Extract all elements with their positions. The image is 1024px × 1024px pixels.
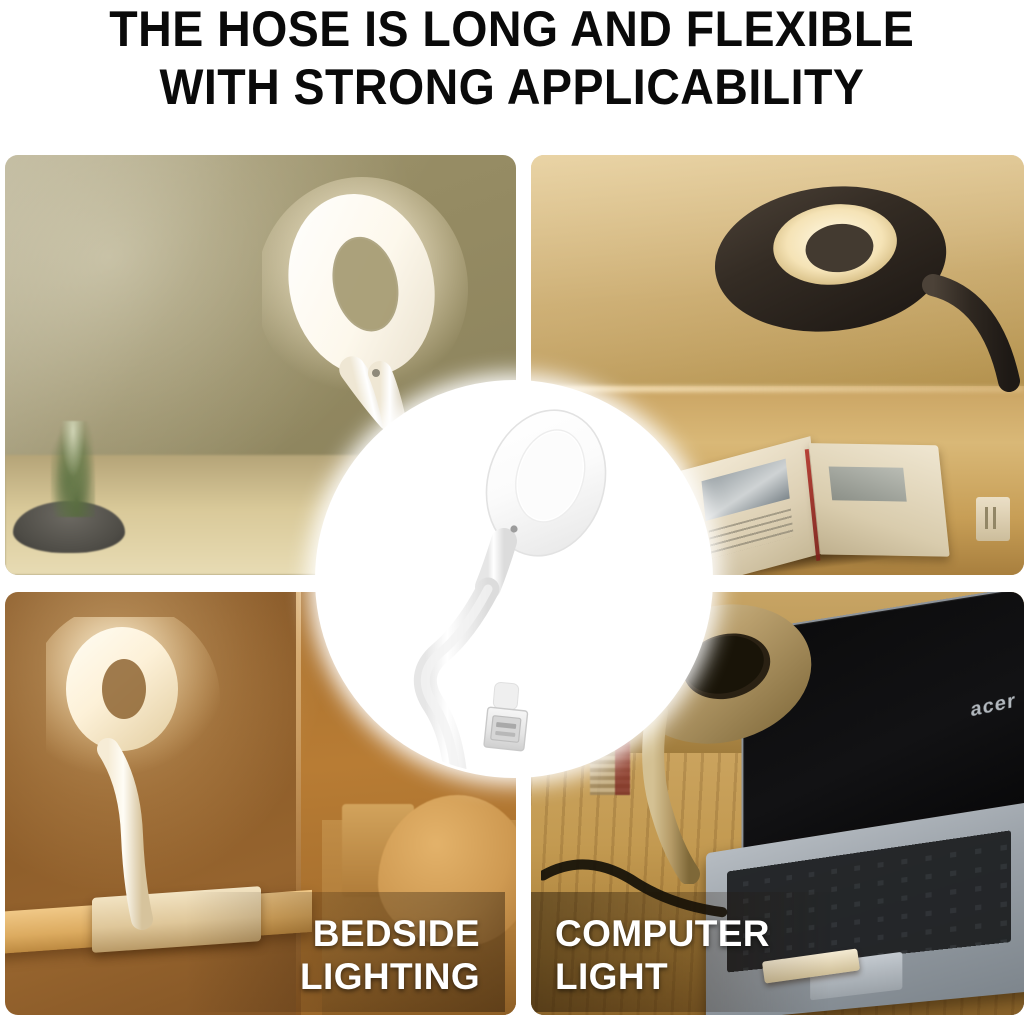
wall-outlet <box>976 497 1010 541</box>
infographic-canvas: THE HOSE IS LONG AND FLEXIBLE WITH STRON… <box>0 0 1024 1024</box>
ring-lamp-dark-icon <box>691 163 1021 433</box>
center-product-medallion <box>318 383 710 775</box>
product-usb-ring-lamp-icon <box>318 383 710 775</box>
usb-cable <box>541 837 827 947</box>
ring-lamp-bedside-icon <box>46 617 246 947</box>
laptop-brand-label: acer <box>971 690 1016 723</box>
potted-plant <box>51 421 95 517</box>
